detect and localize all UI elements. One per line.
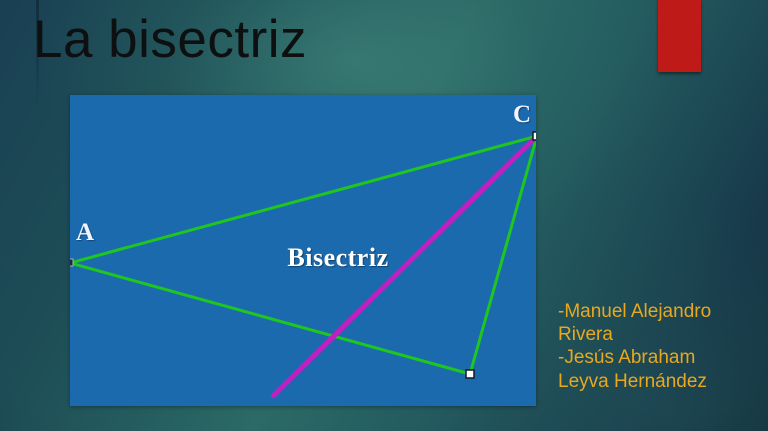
- bisector-caption: Bisectriz: [287, 243, 388, 273]
- presentation-slide: La bisectriz A B C Bisectriz -Manuel Ale…: [0, 0, 768, 431]
- vertex-label-c: C: [513, 101, 531, 129]
- vertex-point-b: [466, 370, 474, 378]
- vertex-label-a: A: [76, 219, 94, 247]
- credit-line-1: -Manuel Alejandro: [558, 300, 764, 323]
- credit-line-2: Rivera: [558, 323, 764, 346]
- credits-block: -Manuel Alejandro Rivera -Jesús Abraham …: [558, 300, 764, 393]
- credit-line-3: -Jesús Abraham: [558, 346, 764, 369]
- geometry-diagram-image: A B C Bisectriz: [70, 95, 536, 406]
- accent-block-red: [658, 0, 701, 72]
- vertex-point-a: [70, 259, 73, 266]
- vertex-point-c: [533, 132, 536, 140]
- credit-line-4: Leyva Hernández: [558, 370, 764, 393]
- page-title: La bisectriz: [33, 12, 307, 68]
- edge-a-b: [70, 263, 470, 374]
